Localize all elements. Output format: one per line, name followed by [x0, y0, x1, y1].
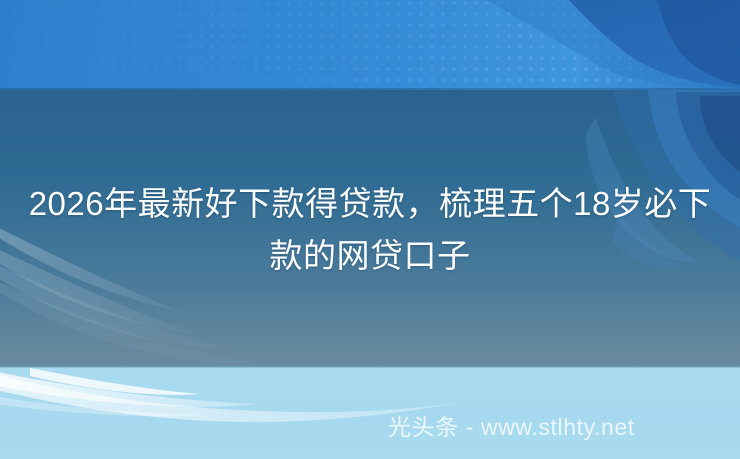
dot-grid-texture: [0, 0, 740, 90]
promo-banner: 2026年最新好下款得贷款，梳理五个18岁必下款的网贷口子 光头条 - www.…: [0, 0, 740, 459]
headline-text: 2026年最新好下款得贷款，梳理五个18岁必下款的网贷口子: [0, 178, 740, 282]
band-divider-upper: [0, 88, 740, 90]
site-watermark: 光头条 - www.stlhty.net: [388, 412, 635, 442]
band-divider-lower: [0, 366, 740, 368]
background-band-top: [0, 0, 740, 90]
